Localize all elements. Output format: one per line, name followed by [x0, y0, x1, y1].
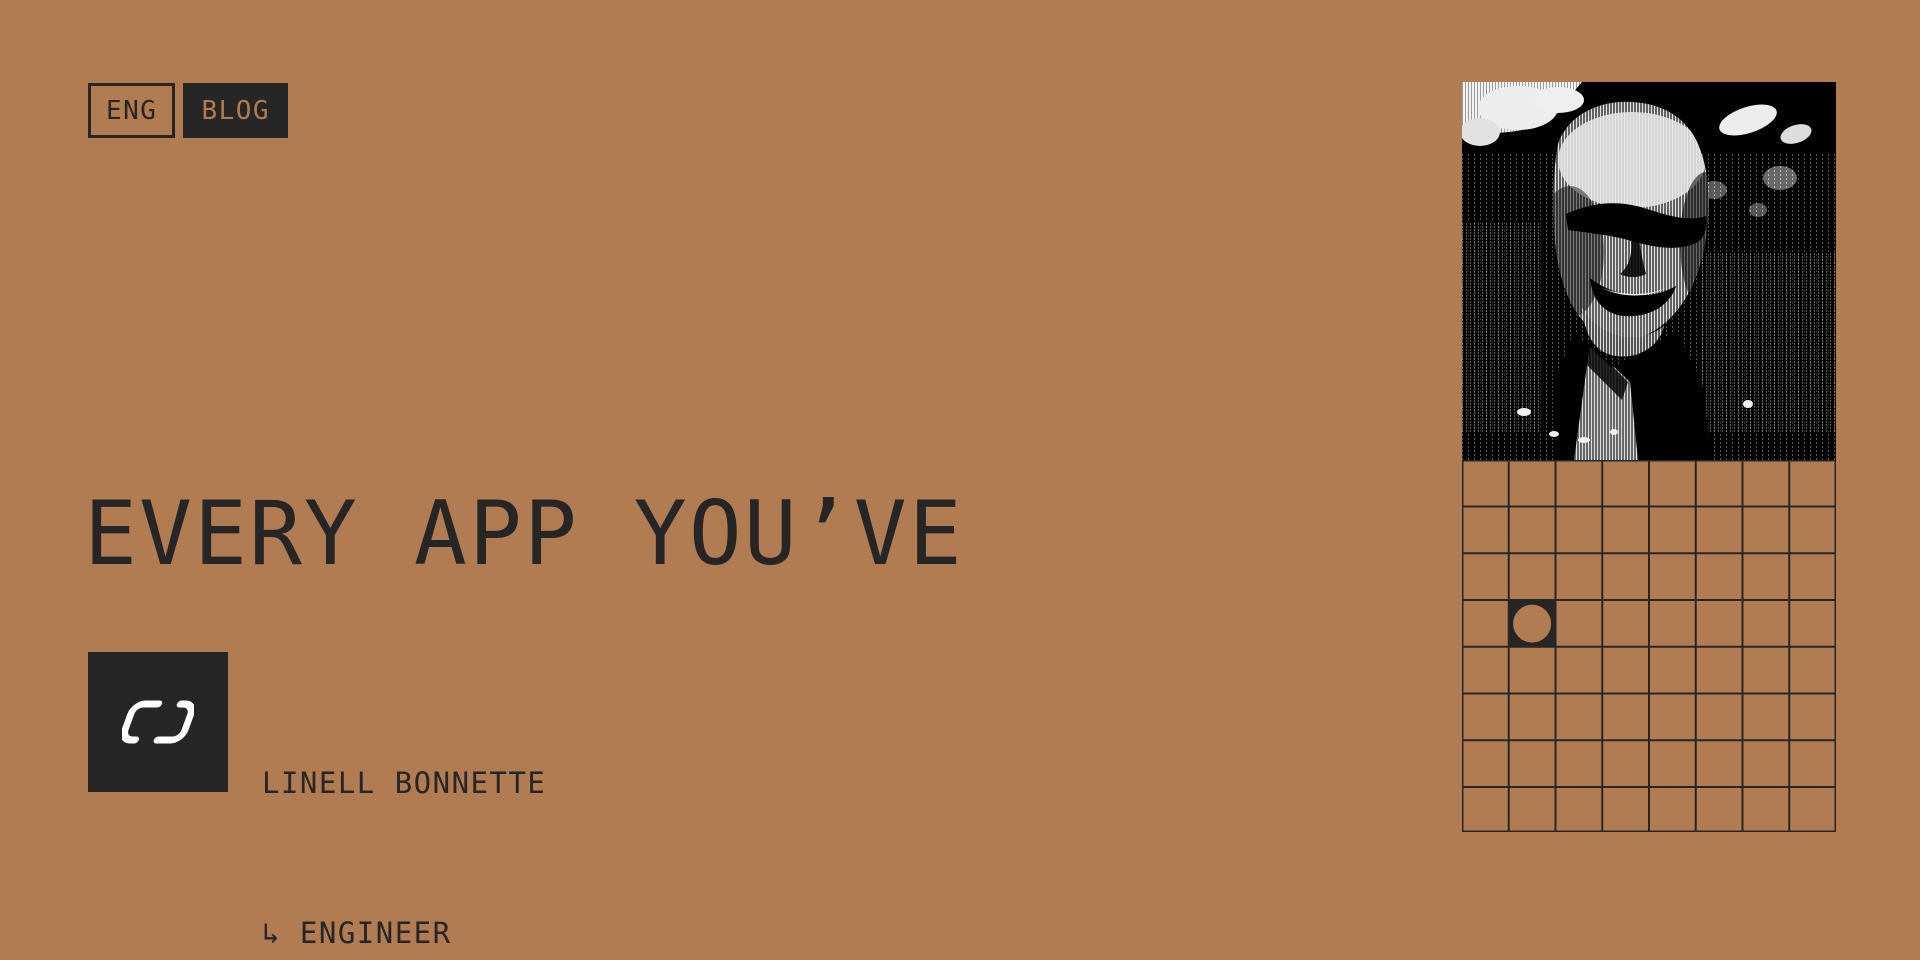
author-portrait	[1462, 82, 1836, 460]
author-block: LINELL BONNETTE ↳ ENGINEER ↳ INNGEST (IN…	[88, 652, 698, 960]
social-card: ENG BLOG EVERY APP YOU’VE BUILT IS AN ET…	[0, 0, 1920, 960]
headline-line-1: EVERY APP YOU’VE	[84, 475, 1264, 593]
badge-blog[interactable]: BLOG	[183, 83, 288, 138]
inngest-logo	[88, 652, 228, 792]
author-text: LINELL BONNETTE ↳ ENGINEER ↳ INNGEST (IN…	[262, 652, 698, 960]
author-name: LINELL BONNETTE	[262, 758, 698, 808]
badge-eng[interactable]: ENG	[88, 83, 175, 138]
author-role: ↳ ENGINEER	[262, 908, 698, 958]
decorative-grid	[1462, 460, 1836, 832]
grid-marker-circle	[1513, 605, 1551, 643]
headline-highlight-etl: ETL	[1074, 954, 1239, 960]
media-column	[1462, 82, 1836, 832]
badge-group: ENG BLOG	[88, 83, 288, 138]
